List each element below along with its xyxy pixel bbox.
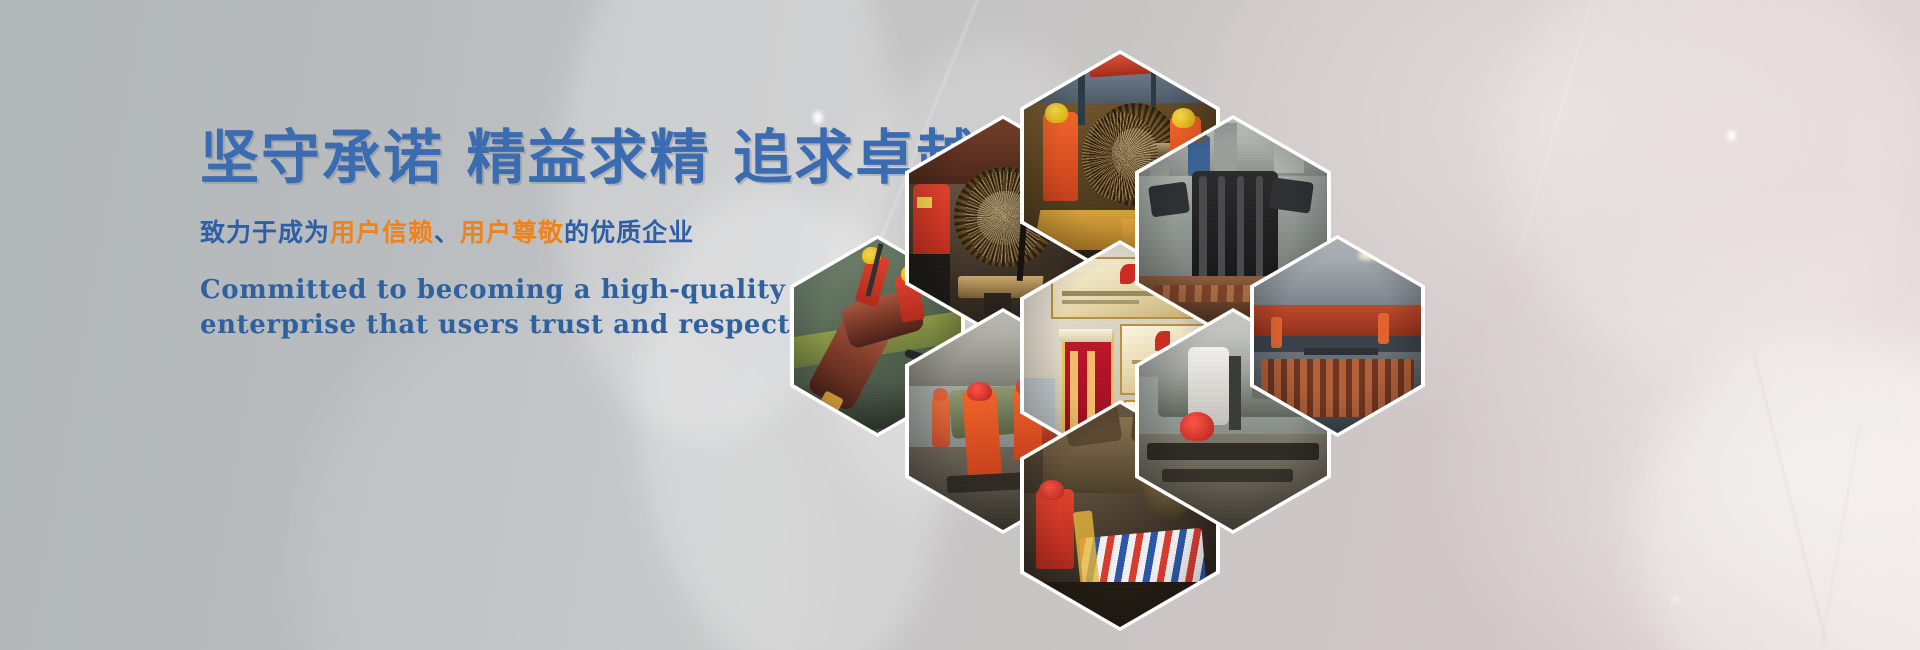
promo-banner: 坚守承诺 精益求精 追求卓越 致力于成为用户信赖、用户尊敬的优质企业 Commi… (0, 0, 1920, 650)
lens-flare-dot (1727, 130, 1736, 141)
background-blob (1500, 0, 1920, 370)
subtitle-part-after: 的优质企业 (564, 218, 694, 247)
subtitle-highlight-trust: 用户信赖 (330, 218, 434, 247)
subtitle-part-middle: 、 (434, 218, 460, 247)
background-blob (300, 300, 820, 650)
background-blob (1640, 330, 1920, 650)
lens-flare-dot (1672, 596, 1678, 602)
subtitle-part-before: 致力于成为 (200, 218, 330, 247)
light-streak (1820, 422, 1861, 649)
light-streak (1754, 354, 1828, 645)
light-streak (1519, 0, 1603, 254)
hexagon-photo-collage (770, 40, 1470, 520)
subtitle-highlight-respect: 用户尊敬 (460, 218, 564, 247)
